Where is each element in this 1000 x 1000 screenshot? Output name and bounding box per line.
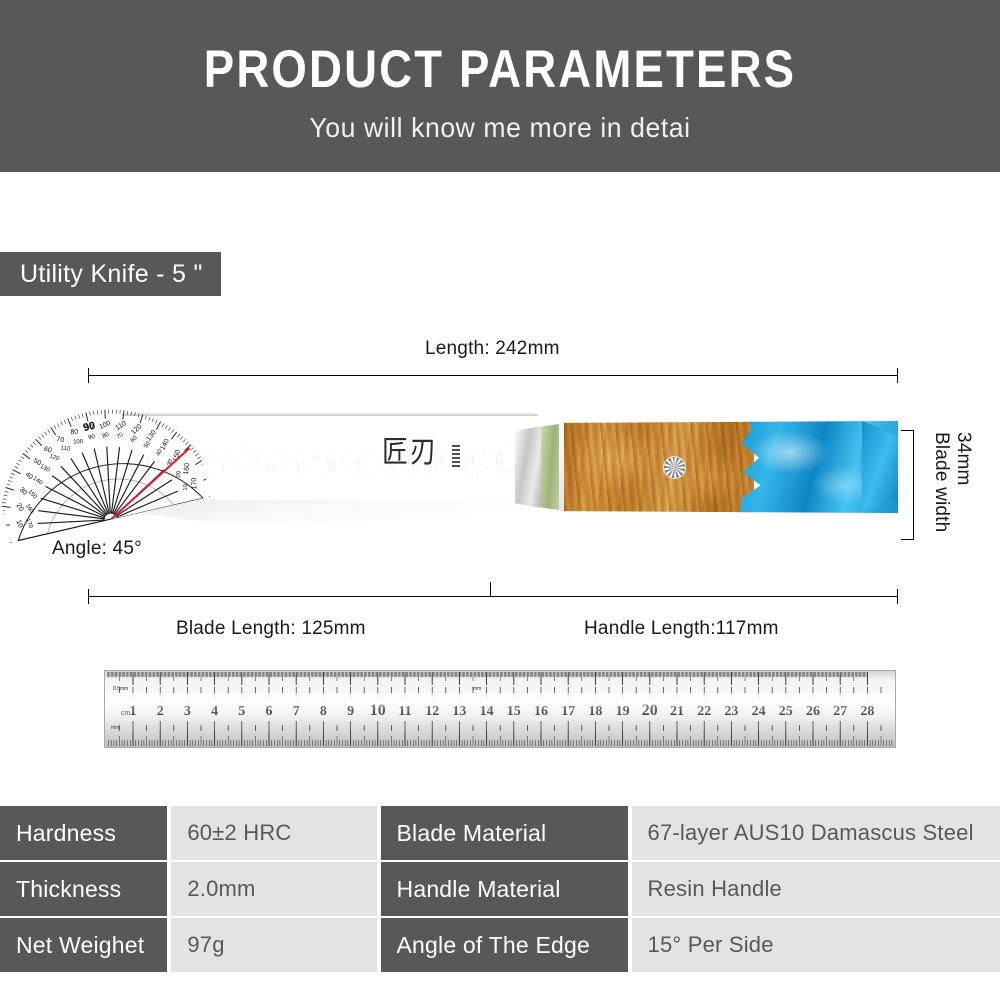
svg-text:20: 20 [176, 470, 183, 478]
spec-label-hardness: Hardness [0, 806, 167, 860]
blade-length-tick-left [88, 589, 89, 604]
table-row: Hardness 60±2 HRC Blade Material 67-laye… [0, 806, 1000, 860]
svg-text:20: 20 [15, 502, 25, 512]
spec-value-handle-material: Resin Handle [632, 862, 1000, 916]
mosaic-pin-icon [663, 456, 686, 479]
burl-wood-section [564, 421, 754, 513]
svg-text:140: 140 [159, 438, 171, 452]
resin-highlight [196, 448, 316, 466]
svg-text:100: 100 [73, 439, 84, 446]
svg-text:110: 110 [115, 420, 128, 432]
blade-length-label: Blade Length: 125mm [176, 618, 366, 640]
svg-text:110: 110 [60, 445, 71, 452]
spec-value-blade-material: 67-layer AUS10 Damascus Steel [632, 806, 1000, 860]
spec-label-net-weight: Net Weighet [0, 918, 167, 972]
spec-value-edge-angle: 15° Per Side [632, 918, 1000, 972]
svg-text:10: 10 [183, 483, 189, 491]
length-label: Length: 242mm [425, 338, 560, 360]
protractor-center-number: 90 [82, 420, 97, 434]
spec-label-blade-material: Blade Material [381, 806, 628, 860]
blade-handle-dimension-line [88, 596, 898, 597]
page-title: PRODUCT PARAMETERS [70, 38, 930, 102]
spec-label-handle-material: Handle Material [381, 862, 628, 916]
overall-length-tick-left [88, 368, 89, 383]
knife-handle [564, 421, 898, 513]
header-banner: PRODUCT PARAMETERS You will know me more… [0, 0, 1000, 172]
svg-text:70: 70 [116, 432, 125, 441]
product-name-badge: Utility Knife - 5 " [0, 252, 221, 296]
svg-text:100: 100 [98, 420, 112, 431]
page-subtitle: You will know me more in detai [25, 111, 975, 145]
svg-text:120: 120 [130, 423, 143, 436]
ruler-mm-label-mid: mm [473, 686, 481, 692]
spec-value-net-weight: 97g [171, 918, 376, 972]
handle-length-label: Handle Length:117mm [584, 618, 779, 640]
blade-handle-divider-tick [490, 582, 491, 597]
svg-text:70: 70 [56, 436, 65, 444]
green-spacer [541, 424, 559, 510]
steel-ruler: 1234567891011121314151617181920212223242… [104, 670, 896, 748]
spec-value-thickness: 2.0mm [171, 862, 376, 916]
spec-label-edge-angle: Angle of The Edge [381, 918, 628, 972]
svg-text:30: 30 [18, 486, 29, 497]
ruler-half-mm-label: 0.5mm [113, 686, 128, 692]
ruler-bottom-ticks [109, 721, 892, 746]
svg-text:80: 80 [102, 432, 111, 440]
svg-text:60: 60 [130, 435, 139, 444]
svg-text:90: 90 [88, 434, 96, 441]
table-row: Net Weighet 97g Angle of The Edge 15° Pe… [0, 918, 1000, 972]
table-row: Thickness 2.0mm Handle Material Resin Ha… [0, 862, 1000, 916]
svg-text:130: 130 [145, 429, 158, 443]
handle-length-tick-right [897, 589, 898, 604]
svg-text:120: 120 [49, 454, 61, 463]
product-parameters-page: PRODUCT PARAMETERS You will know me more… [0, 0, 1000, 1000]
ruler-metallic-sheen [105, 693, 895, 723]
svg-text:130: 130 [39, 464, 51, 474]
handle-butt-end [862, 421, 898, 513]
overall-length-dimension-line [88, 375, 898, 376]
svg-text:150: 150 [26, 489, 38, 501]
svg-text:10: 10 [14, 519, 24, 529]
svg-text:160: 160 [183, 463, 191, 476]
svg-text:80: 80 [70, 429, 78, 436]
white-spacer [559, 423, 564, 511]
blade-etching-mark [452, 445, 460, 467]
overall-length-tick-right [897, 368, 898, 383]
blade-etching-characters: 匠刃 [382, 438, 438, 468]
specification-table: Hardness 60±2 HRC Blade Material 67-laye… [0, 806, 1000, 974]
spec-value-hardness: 60±2 HRC [171, 806, 376, 860]
spec-label-thickness: Thickness [0, 862, 167, 916]
svg-text:170: 170 [191, 477, 199, 489]
ruler-mm-label-left: mm [111, 725, 119, 731]
steel-bolster [515, 426, 541, 508]
svg-text:140: 140 [31, 476, 43, 487]
